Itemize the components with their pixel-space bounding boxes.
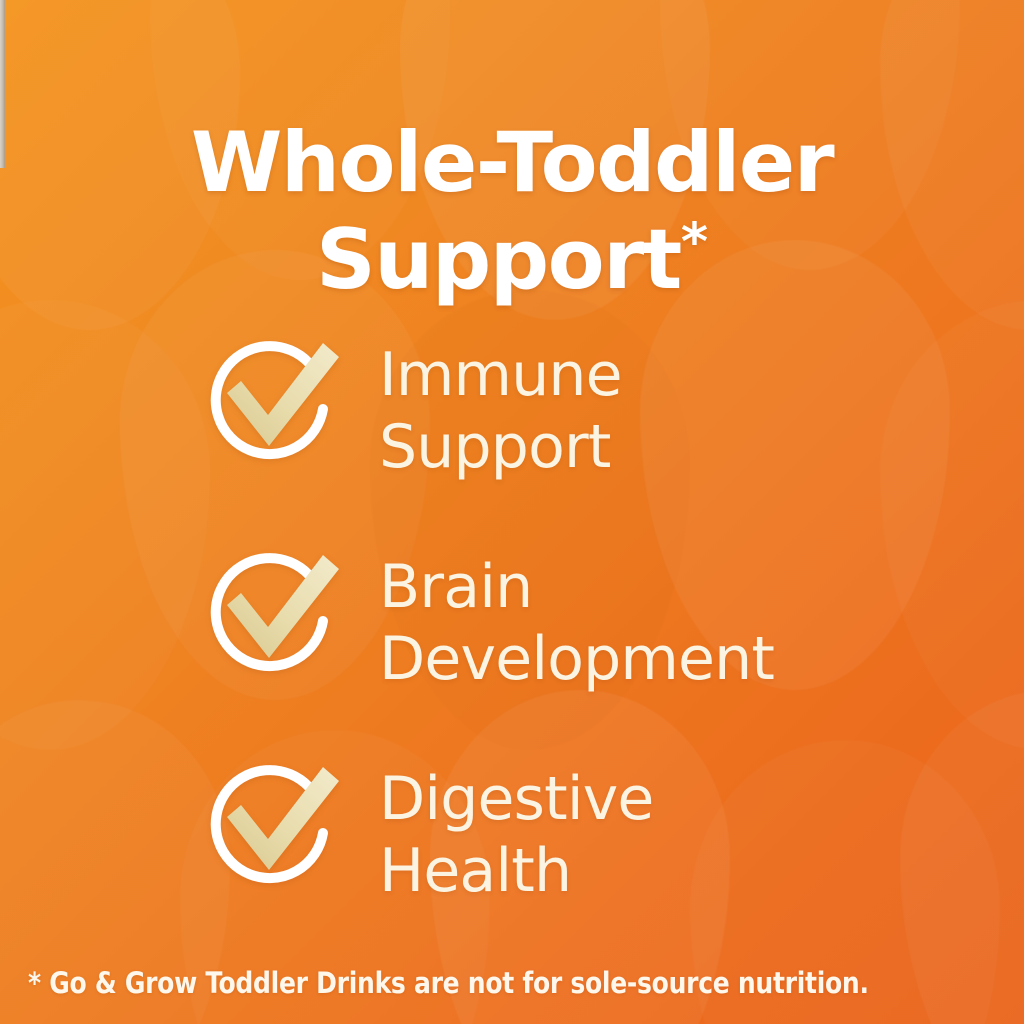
list-item-label: Immune Support bbox=[379, 333, 622, 483]
list-item: Immune Support bbox=[205, 333, 1005, 483]
page-title-line-1: Whole-Toddler bbox=[40, 114, 984, 211]
list-item-label: Brain Development bbox=[379, 545, 774, 695]
page-title-asterisk: * bbox=[681, 212, 708, 272]
promo-panel: Whole-Toddler Support* Immu bbox=[0, 0, 1024, 1024]
list-item: Digestive Health bbox=[205, 757, 1005, 907]
page-title-line-2-text: Support bbox=[316, 211, 681, 308]
benefits-list: Immune Support Brain Development bbox=[205, 333, 1005, 907]
check-circle-icon bbox=[205, 333, 345, 473]
page-title: Whole-Toddler Support* bbox=[0, 114, 1024, 308]
check-circle-icon bbox=[205, 757, 345, 897]
page-title-line-2: Support* bbox=[40, 211, 984, 308]
list-item: Brain Development bbox=[205, 545, 1005, 695]
check-circle-icon bbox=[205, 545, 345, 685]
footnote-disclaimer: * Go & Grow Toddler Drinks are not for s… bbox=[28, 966, 869, 1000]
list-item-label: Digestive Health bbox=[379, 757, 654, 907]
